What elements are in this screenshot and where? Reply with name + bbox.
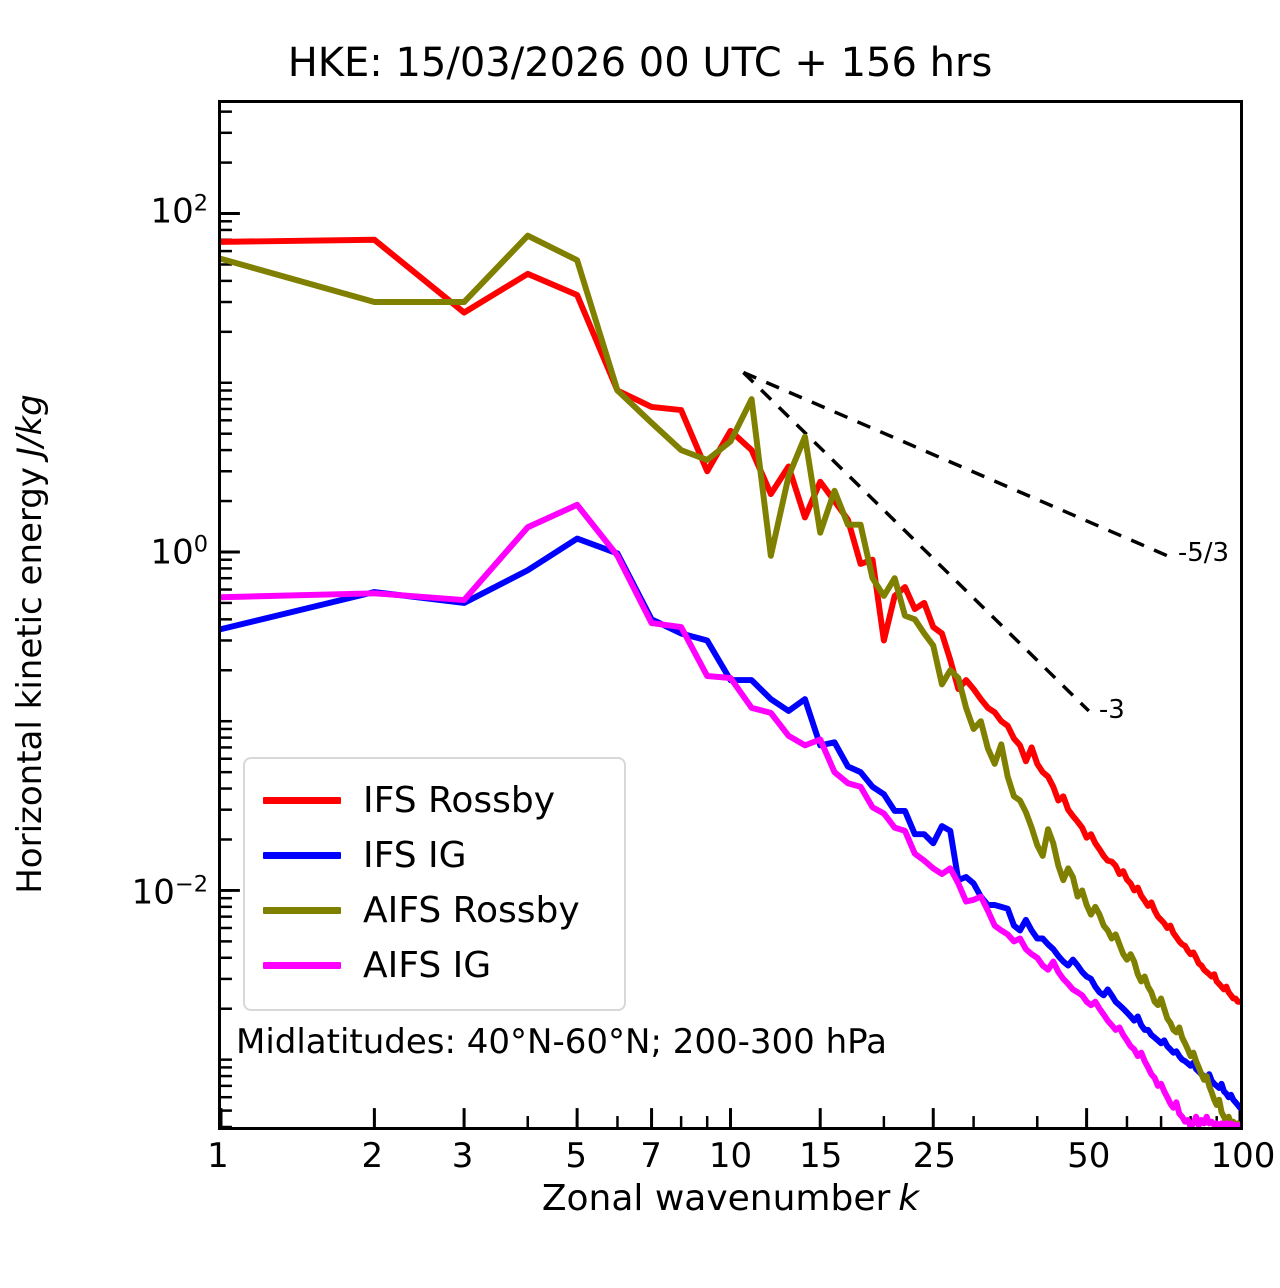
y-tick-label-1: 100: [150, 531, 208, 572]
chart-title: HKE: 15/03/2026 00 UTC + 156 hrs: [0, 40, 1280, 86]
legend-swatch-ifs-ig: [263, 852, 341, 859]
x-tick-label-15: 15: [799, 1136, 842, 1176]
slope-label-five-thirds: -5/3: [1178, 538, 1229, 568]
x-tick-label-25: 25: [913, 1136, 956, 1176]
y-tick-label-2: 10−2: [132, 871, 208, 912]
reference-line-three: [743, 372, 1088, 710]
legend-swatch-aifs-ig: [263, 962, 341, 969]
x-tick-label-10: 10: [709, 1136, 752, 1176]
x-tick-label-1: 1: [207, 1136, 229, 1176]
slope-label-three: -3: [1099, 695, 1125, 725]
region-annotation: Midlatitudes: 40°N-60°N; 200-300 hPa: [236, 1022, 887, 1062]
x-tick-label-2: 2: [361, 1136, 383, 1176]
legend-item: AIFS Rossby: [263, 883, 606, 938]
legend-label-aifs-ig: AIFS IG: [363, 948, 491, 984]
legend: IFS Rossby IFS IG AIFS Rossby AIFS IG: [243, 757, 626, 1011]
legend-label-aifs-rossby: AIFS Rossby: [363, 893, 580, 929]
legend-item: IFS IG: [263, 828, 606, 883]
legend-item: AIFS IG: [263, 938, 606, 993]
x-axis-label: Zonal wavenumberk: [218, 1178, 1243, 1219]
y-tick-label-0: 102: [150, 191, 208, 232]
x-tick-label-3: 3: [452, 1136, 474, 1176]
x-axis-label-text: Zonal wavenumber: [542, 1178, 890, 1219]
x-axis-label-symbol: k: [890, 1178, 919, 1219]
legend-swatch-ifs-rossby: [263, 797, 341, 804]
legend-label-ifs-rossby: IFS Rossby: [363, 783, 555, 819]
y-axis-label: Horizontal kinetic energyJ/kg: [0, 0, 60, 1288]
x-tick-label-7: 7: [640, 1136, 662, 1176]
legend-item: IFS Rossby: [263, 773, 606, 828]
x-tick-label-100: 100: [1211, 1136, 1276, 1176]
legend-label-ifs-ig: IFS IG: [363, 838, 467, 874]
y-axis-label-text: Horizontal kinetic energy: [10, 467, 50, 894]
x-tick-label-50: 50: [1067, 1136, 1110, 1176]
legend-swatch-aifs-rossby: [263, 907, 341, 914]
y-axis-label-unit: J/kg: [10, 394, 50, 467]
chart-figure: HKE: 15/03/2026 00 UTC + 156 hrs Horizon…: [0, 0, 1280, 1288]
x-tick-label-5: 5: [565, 1136, 587, 1176]
